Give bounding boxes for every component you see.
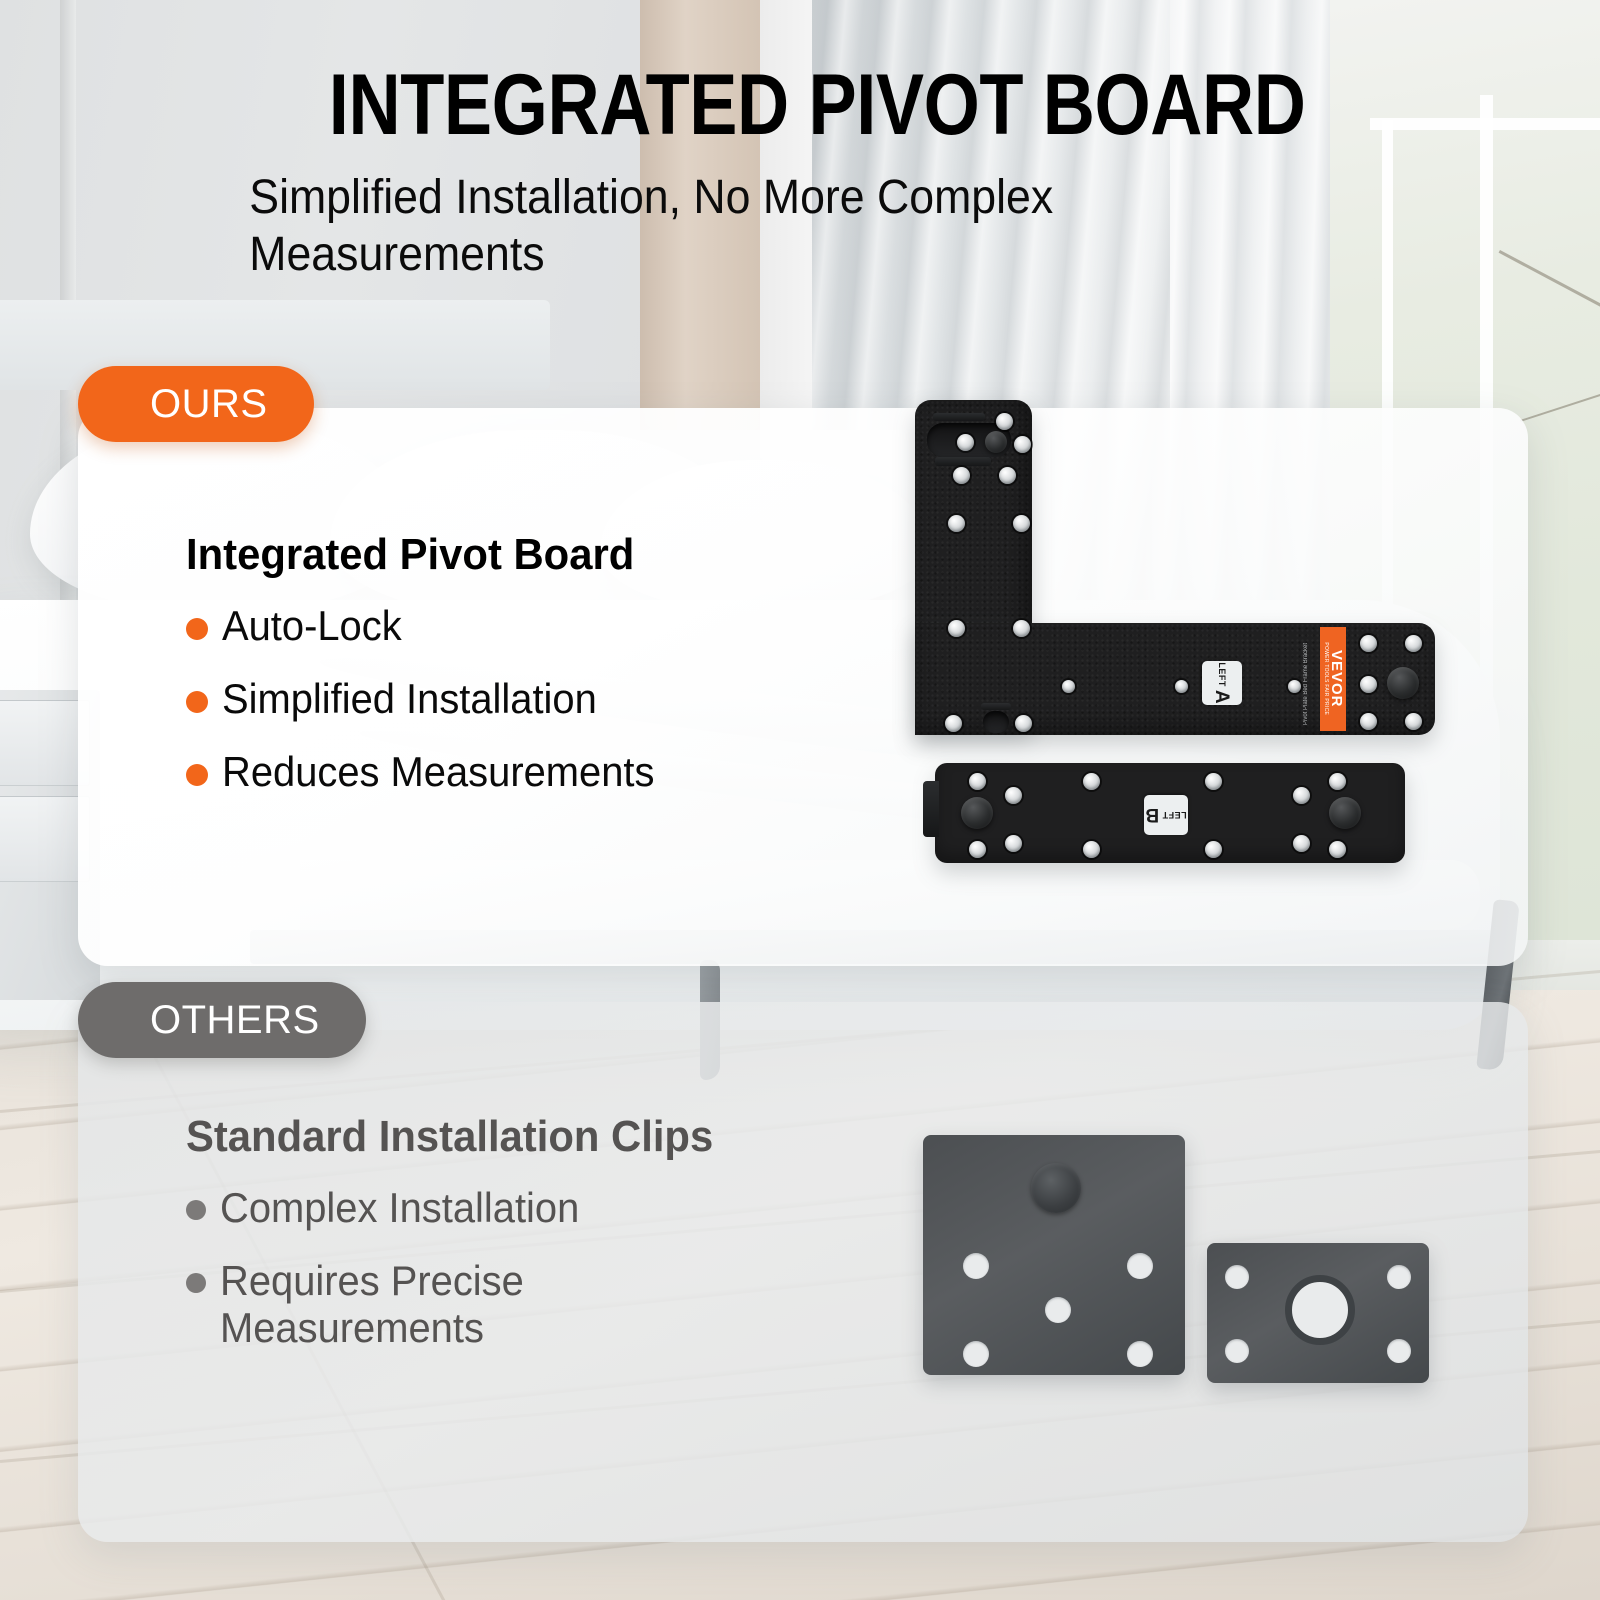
- part-label-b: LEFT B: [1144, 795, 1188, 835]
- ours-feature-label: Auto-Lock: [222, 602, 402, 649]
- screw-hole: [953, 467, 970, 484]
- bullet-dot-icon: [186, 1200, 206, 1220]
- screw-hole: [1329, 841, 1346, 858]
- screw-hole: [948, 620, 965, 637]
- screw-hole: [1005, 787, 1022, 804]
- part-label-b-letter: B: [1145, 806, 1159, 825]
- screw-hole: [1205, 841, 1222, 858]
- pivot-boss: [1387, 667, 1419, 699]
- screw-hole: [948, 515, 965, 532]
- headline-block: INTEGRATED PIVOT BOARD Simplified Instal…: [240, 62, 1350, 283]
- clip-hole: [1225, 1339, 1249, 1363]
- screw-hole: [1083, 773, 1100, 790]
- tree-branch: [1520, 389, 1600, 422]
- pivot-boss: [961, 797, 993, 829]
- bullet-dot-icon: [186, 618, 208, 640]
- hinge-tab: [933, 413, 985, 421]
- screw-hole: [1062, 680, 1075, 693]
- screw-hole: [1293, 835, 1310, 852]
- others-feature-label: Requires Precise Measurements: [220, 1257, 629, 1351]
- ours-badge-label: OURS: [150, 382, 268, 427]
- list-item: Complex Installation: [186, 1184, 886, 1231]
- screw-hole: [945, 715, 962, 732]
- screw-hole: [1405, 713, 1422, 730]
- screw-hole: [1013, 620, 1030, 637]
- pivot-slot: [983, 711, 1009, 733]
- pivot-boss: [1329, 797, 1361, 829]
- part-label-a-side: LEFT: [1218, 662, 1227, 687]
- spec-text: Pivot Plate Bed Frame Bracket: [1303, 633, 1315, 725]
- vevor-tagline: POWER TOOLS FAIR PRICE: [1322, 643, 1328, 716]
- clip-hole: [963, 1253, 989, 1279]
- ours-text-block: Integrated Pivot Board Auto-Lock Simplif…: [186, 530, 826, 821]
- hinge-tab: [935, 457, 991, 466]
- window-header: [1370, 118, 1600, 130]
- vevor-brand-label: VEVOR: [1329, 643, 1344, 716]
- bullet-dot-icon: [186, 691, 208, 713]
- vevor-brand-sticker: VEVOR POWER TOOLS FAIR PRICE: [1320, 627, 1346, 731]
- hinge-tab: [981, 703, 1011, 710]
- others-feature-list: Complex Installation Requires Precise Me…: [186, 1184, 886, 1351]
- others-badge-label: OTHERS: [150, 998, 320, 1043]
- clip-hole: [1387, 1265, 1411, 1289]
- clip-hole: [963, 1341, 989, 1367]
- screw-hole: [1360, 635, 1377, 652]
- screw-hole: [1288, 680, 1301, 693]
- clip-hole: [1225, 1265, 1249, 1289]
- screw-hole: [969, 841, 986, 858]
- ours-badge: OURS: [78, 366, 314, 442]
- screw-hole: [1405, 635, 1422, 652]
- bullet-dot-icon: [186, 1273, 206, 1293]
- list-item: Reduces Measurements: [186, 748, 826, 795]
- nightstand-drawer: [0, 700, 90, 786]
- screw-hole: [1175, 680, 1188, 693]
- page-title: INTEGRATED PIVOT BOARD: [329, 62, 1261, 148]
- others-text-block: Standard Installation Clips Complex Inst…: [186, 1112, 886, 1377]
- list-item: Auto-Lock: [186, 602, 826, 649]
- screw-hole: [1293, 787, 1310, 804]
- screw-hole: [1205, 773, 1222, 790]
- ours-feature-list: Auto-Lock Simplified Installation Reduce…: [186, 602, 826, 795]
- pivot-boss: [985, 431, 1007, 453]
- standard-installation-clips-image: [915, 1125, 1435, 1375]
- page-subtitle: Simplified Installation, No More Complex…: [240, 170, 1272, 283]
- nightstand-drawer: [0, 796, 90, 882]
- others-product-title: Standard Installation Clips: [186, 1112, 851, 1162]
- part-label-a-letter: A: [1213, 690, 1232, 704]
- screw-hole: [1005, 835, 1022, 852]
- list-item: Simplified Installation: [186, 675, 826, 722]
- screw-hole: [1015, 715, 1032, 732]
- others-badge: OTHERS: [78, 982, 366, 1058]
- list-item: Requires Precise Measurements: [186, 1257, 886, 1351]
- integrated-pivot-board-image: LEFT A Pivot Plate Bed Frame Bracket VEV…: [905, 395, 1465, 875]
- screw-hole: [1014, 436, 1031, 453]
- tree-branch: [1499, 250, 1600, 314]
- screw-hole: [1360, 676, 1377, 693]
- part-label-b-side: LEFT: [1162, 811, 1187, 820]
- screw-hole: [1360, 713, 1377, 730]
- ours-feature-label: Simplified Installation: [222, 675, 597, 722]
- clip-hole: [1045, 1297, 1071, 1323]
- screw-hole: [996, 413, 1013, 430]
- clip-hole: [1127, 1253, 1153, 1279]
- ours-feature-label: Reduces Measurements: [222, 748, 654, 795]
- clip-boss: [1031, 1163, 1081, 1213]
- hinge-tab: [923, 781, 939, 837]
- screw-hole: [969, 773, 986, 790]
- part-label-a: LEFT A: [1202, 661, 1242, 705]
- screw-hole: [1013, 515, 1030, 532]
- clip-hole: [1127, 1341, 1153, 1367]
- clip-hole: [1387, 1339, 1411, 1363]
- screw-hole: [999, 467, 1016, 484]
- bullet-dot-icon: [186, 764, 208, 786]
- screw-hole: [1329, 773, 1346, 790]
- screw-hole: [1083, 841, 1100, 858]
- clip-center-ring: [1285, 1275, 1355, 1345]
- screw-hole: [957, 434, 974, 451]
- ours-product-title: Integrated Pivot Board: [186, 530, 794, 580]
- others-feature-label: Complex Installation: [220, 1184, 579, 1231]
